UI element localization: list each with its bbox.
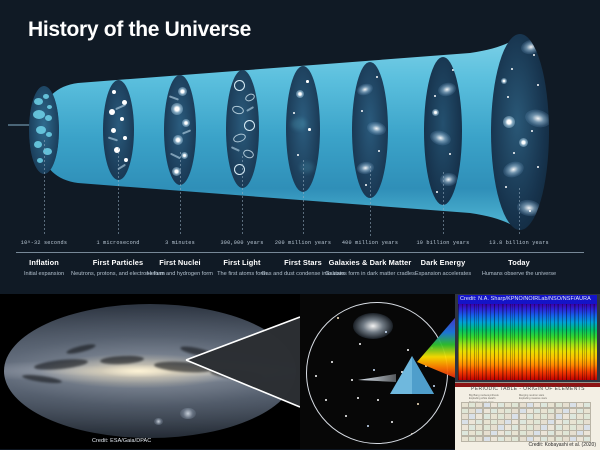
time-label-0: 10^-32 seconds	[21, 240, 67, 246]
time-label-4: 200 million years	[275, 240, 331, 246]
periodic-table-title: PERIODIC TABLE - ORIGIN OF ELEMENTS	[471, 386, 585, 392]
stage-today: Today Humans observe the universe	[471, 258, 567, 278]
time-label-3: 300,000 years	[220, 240, 263, 246]
solar-spectrum-panel: Credit: N.A. Sharp/KPNO/NOIRLab/NSO/NSF/…	[455, 294, 600, 382]
gaia-credit: Credit: ESA/Gaia/DPAC	[92, 438, 151, 444]
observation-panels: Credit: ESA/Gaia/DPAC	[0, 294, 600, 449]
tick-mark	[519, 188, 520, 236]
prism-rainbow-icon	[300, 294, 455, 449]
stage-desc: Humans observe the universe	[471, 271, 567, 278]
periodic-table-panel: PERIODIC TABLE - ORIGIN OF ELEMENTS Big …	[455, 382, 600, 450]
tick-mark	[303, 160, 304, 236]
periodic-table-legend-2: Merging neutron stars Exploding massive …	[519, 394, 547, 401]
infographic-root: History of the Universe	[0, 0, 600, 449]
cone-slice-today	[491, 34, 549, 230]
legend-item: Exploding massive stars	[519, 397, 547, 400]
spectrum-credit: Credit: N.A. Sharp/KPNO/NOIRLab/NSO/NSF/…	[460, 296, 591, 302]
time-label-6: 10 billion years	[416, 240, 469, 246]
page-title: History of the Universe	[28, 18, 251, 42]
tick-mark	[443, 172, 444, 236]
milky-way-allsky-icon	[4, 304, 296, 438]
periodic-table-credit: Credit: Kobayashi et al. (2020)	[528, 442, 596, 448]
time-label-1: 1 microsecond	[96, 240, 139, 246]
tick-mark	[370, 166, 371, 236]
tick-mark	[242, 156, 243, 236]
tick-mark	[180, 152, 181, 236]
star-cluster-panel	[300, 294, 455, 449]
absorption-lines	[458, 304, 597, 380]
tick-mark	[44, 140, 45, 236]
time-label-7: 13.8 billion years	[489, 240, 549, 246]
timeline-axis-rule	[16, 252, 584, 253]
universe-timeline-panel: History of the Universe	[0, 0, 600, 294]
expansion-cone	[0, 40, 600, 225]
spectrum-image	[458, 304, 597, 380]
stage-title: Today	[471, 258, 567, 268]
time-label-2: 3 minutes	[165, 240, 195, 246]
tick-mark	[118, 148, 119, 236]
time-label-5: 400 million years	[342, 240, 398, 246]
gaia-allsky-panel: Credit: ESA/Gaia/DPAC	[0, 294, 300, 449]
